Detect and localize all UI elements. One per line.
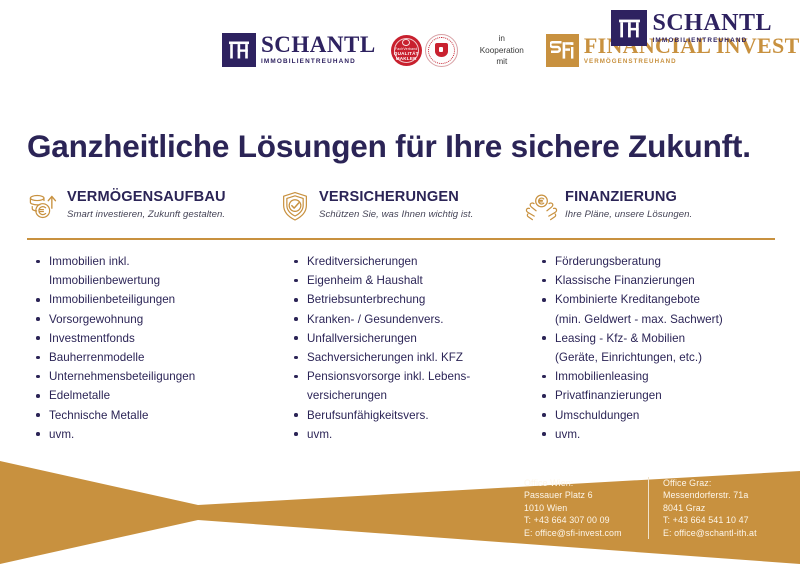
list-item: Unfallversicherungen	[293, 329, 533, 348]
list-item-label: Vorsorgewohnung	[49, 313, 143, 326]
office-street: Messendorferstr. 71a	[663, 489, 757, 501]
list-item-label: Sachversicherungen inkl. KFZ	[307, 351, 463, 364]
office-name: Office Wien:	[524, 477, 648, 489]
list-item-label: Technische Metalle	[49, 409, 149, 422]
column-title: VERSICHERUNGEN	[319, 189, 473, 206]
column-title: VERMÖGENSAUFBAU	[67, 189, 226, 206]
list-item-label-continued: (min. Geldwert - max. Sachwert)	[555, 310, 796, 329]
office-email[interactable]: E: office@schantl-ith.at	[663, 527, 757, 539]
list-item-label: Immobilienbeteiligungen	[49, 293, 175, 306]
list-item-label: Pensionsvorsorge inkl. Lebens-	[307, 370, 470, 383]
list-item-label-continued: versicherungen	[307, 386, 533, 405]
column-title: FINANZIERUNG	[565, 189, 692, 206]
column-versicherungen: VERSICHERUNGEN Schützen Sie, was Ihnen w…	[279, 188, 525, 232]
list-item: Vorsorgewohnung	[35, 310, 280, 329]
sfi-monogram-icon	[546, 34, 579, 67]
ith-logo: SCHANTL IMMOBILIENTREUHAND	[222, 33, 376, 67]
list-item-label-continued: Immobilienbewertung	[49, 271, 280, 290]
list-versicherungen: KreditversicherungenEigenheim & Haushalt…	[293, 252, 533, 444]
list-item-label-continued: (Geräte, Einrichtungen, etc.)	[555, 348, 796, 367]
hands-holding-coin-icon	[525, 190, 558, 223]
cooperation-line-2: Kooperation	[480, 45, 524, 57]
header-logo-bar: SCHANTL IMMOBILIENTREUHAND FachVerband Q…	[0, 0, 800, 112]
column-finanzierung: FINANZIERUNG Ihre Pläne, unsere Lösungen…	[525, 188, 775, 232]
list-item: Eigenheim & Haushalt	[293, 271, 533, 290]
cooperation-line-1: in	[480, 33, 524, 45]
list-vermoegensaufbau: Immobilien inkl.ImmobilienbewertungImmob…	[35, 252, 280, 444]
footer-contact: Office Wien: Passauer Platz 6 1010 Wien …	[524, 477, 757, 539]
column-tagline: Smart investieren, Zukunft gestalten.	[67, 208, 226, 221]
list-item: Investmentfonds	[35, 329, 280, 348]
list-finanzierung: FörderungsberatungKlassische Finanzierun…	[541, 252, 796, 444]
list-item: Pensionsvorsorge inkl. Lebens-versicheru…	[293, 367, 533, 405]
list-item: Berufsunfähigkeitsvers.	[293, 406, 533, 425]
office-phone[interactable]: T: +43 664 541 10 47	[663, 514, 757, 526]
list-item: Betriebsunterbrechung	[293, 290, 533, 309]
list-item-label: Klassische Finanzierungen	[555, 274, 695, 287]
ith-monogram-icon-top-right	[611, 10, 647, 46]
sfi-subtitle: VERMÖGENSTREUHAND	[584, 57, 800, 66]
service-columns: VERMÖGENSAUFBAU Smart investieren, Zukun…	[27, 188, 775, 232]
office-graz: Office Graz: Messendorferstr. 71a 8041 G…	[648, 477, 757, 539]
office-city: 1010 Wien	[524, 502, 648, 514]
list-item: Kranken- / Gesundenvers.	[293, 310, 533, 329]
list-item: Immobilienleasing	[541, 367, 796, 386]
list-item: Privatfinanzierungen	[541, 386, 796, 405]
list-item-label: Edelmetalle	[49, 389, 110, 402]
seal-line-3: MAKLER	[396, 56, 417, 61]
shield-check-icon	[279, 190, 312, 223]
list-item: Unternehmensbeteiligungen	[35, 367, 280, 386]
list-item-label: Betriebsunterbrechung	[307, 293, 425, 306]
list-item: Kreditversicherungen	[293, 252, 533, 271]
list-item: Leasing - Kfz- & Mobilien(Geräte, Einric…	[541, 329, 796, 367]
list-item: Sachversicherungen inkl. KFZ	[293, 348, 533, 367]
list-item-label: Bauherrenmodelle	[49, 351, 145, 364]
list-item-label: Leasing - Kfz- & Mobilien	[555, 332, 685, 345]
list-item: Klassische Finanzierungen	[541, 271, 796, 290]
qualitaets-makler-seal-icon: FachVerband QUALITÄT MAKLER	[391, 35, 422, 66]
list-item-label: Berufsunfähigkeitsvers.	[307, 409, 429, 422]
list-item-label: Kranken- / Gesundenvers.	[307, 313, 444, 326]
list-item-label: Unfallversicherungen	[307, 332, 417, 345]
ith-logo-top-right: SCHANTL IMMOBILIENTREUHAND	[611, 10, 772, 46]
list-item: Bauherrenmodelle	[35, 348, 280, 367]
list-item-label: Eigenheim & Haushalt	[307, 274, 423, 287]
list-item-label: Immobilienleasing	[555, 370, 649, 383]
list-item: Edelmetalle	[35, 386, 280, 405]
list-item: Technische Metalle	[35, 406, 280, 425]
page-title: Ganzheitliche Lösungen für Ihre sichere …	[27, 128, 751, 165]
list-item-label: Kreditversicherungen	[307, 255, 418, 268]
list-item-label: Förderungsberatung	[555, 255, 661, 268]
ith-subtitle: IMMOBILIENTREUHAND	[261, 57, 376, 66]
office-email[interactable]: E: office@sfi-invest.com	[524, 527, 648, 539]
list-item-label: Investmentfonds	[49, 332, 135, 345]
list-item: Immobilienbeteiligungen	[35, 290, 280, 309]
certification-seals: FachVerband QUALITÄT MAKLER	[391, 34, 458, 67]
poster-page: SCHANTL IMMOBILIENTREUHAND FachVerband Q…	[0, 0, 800, 564]
list-item: Kombinierte Kreditangebote(min. Geldwert…	[541, 290, 796, 328]
coins-euro-growth-icon	[27, 190, 60, 223]
cooperation-line-3: mit	[480, 56, 524, 68]
office-name: Office Graz:	[663, 477, 757, 489]
list-item: Umschuldungen	[541, 406, 796, 425]
office-phone[interactable]: T: +43 664 307 00 09	[524, 514, 648, 526]
office-wien: Office Wien: Passauer Platz 6 1010 Wien …	[524, 477, 648, 539]
list-item-label: Unternehmensbeteiligungen	[49, 370, 195, 383]
list-item-label: Kombinierte Kreditangebote	[555, 293, 700, 306]
list-item: Immobilien inkl.Immobilienbewertung	[35, 252, 280, 290]
ith-subtitle-top-right: IMMOBILIENTREUHAND	[652, 36, 772, 45]
ith-wordmark: SCHANTL	[261, 34, 376, 56]
cooperation-note: in Kooperation mit	[480, 33, 524, 68]
column-tagline: Ihre Pläne, unsere Lösungen.	[565, 208, 692, 221]
office-street: Passauer Platz 6	[524, 489, 648, 501]
column-tagline: Schützen Sie, was Ihnen wichtig ist.	[319, 208, 473, 221]
ith-monogram-icon	[222, 33, 256, 67]
list-item-label: Umschuldungen	[555, 409, 639, 422]
office-city: 8041 Graz	[663, 502, 757, 514]
ith-wordmark-top-right: SCHANTL	[652, 12, 772, 35]
column-vermoegensaufbau: VERMÖGENSAUFBAU Smart investieren, Zukun…	[27, 188, 279, 232]
gold-divider	[27, 238, 775, 240]
list-item-label: Privatfinanzierungen	[555, 389, 662, 402]
wirtschaftskammer-seal-icon	[425, 34, 458, 67]
list-item: Förderungsberatung	[541, 252, 796, 271]
list-item-label: Immobilien inkl.	[49, 255, 130, 268]
